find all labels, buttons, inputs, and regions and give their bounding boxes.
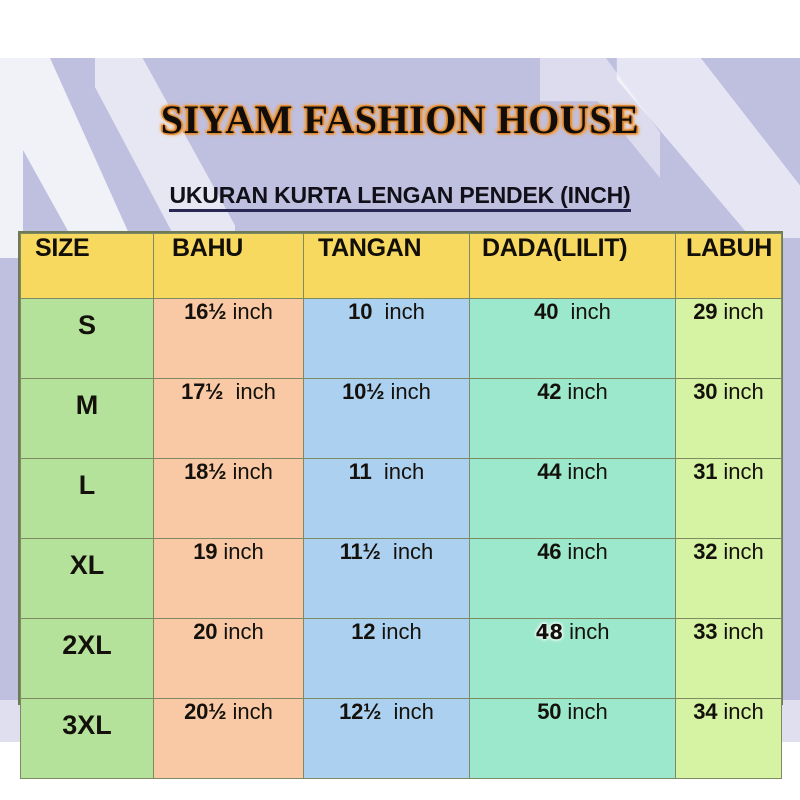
value-number-edited: 48 <box>536 620 563 644</box>
cell-dada: 46 inch <box>470 539 676 619</box>
cell-size: XL <box>21 539 154 619</box>
value-number: 16½ <box>184 299 226 324</box>
column-header-bahu: BAHU <box>154 234 304 299</box>
value-unit: inch <box>381 699 434 724</box>
cell-size: L <box>21 459 154 539</box>
chart-subtitle: UKURAN KURTA LENGAN PENDEK (INCH) <box>0 182 800 209</box>
value-unit: inch <box>372 459 425 484</box>
value-number: 34 <box>693 699 717 724</box>
value-unit: inch <box>717 539 763 564</box>
value-number: 42 <box>537 379 561 404</box>
size-chart-table-container: SIZE BAHU TANGAN DADA(LILIT) LABUH S 16½… <box>18 231 783 705</box>
value-unit: inch <box>561 379 607 404</box>
column-header-size: SIZE <box>21 234 154 299</box>
size-chart-image: SIYAM FASHION HOUSE UKURAN KURTA LENGAN … <box>0 0 800 800</box>
cell-size: M <box>21 379 154 459</box>
value-unit: inch <box>561 699 607 724</box>
cell-tangan: 11 inch <box>304 459 470 539</box>
cell-bahu: 19 inch <box>154 539 304 619</box>
value-number: 33 <box>693 619 717 644</box>
cell-labuh: 30 inch <box>676 379 782 459</box>
cell-size: S <box>21 299 154 379</box>
cell-labuh: 34 inch <box>676 699 782 779</box>
value-unit: inch <box>384 379 430 404</box>
table-row: 3XL 20½ inch 12½ inch 50 inch 34 inch <box>21 699 782 779</box>
value-number: 46 <box>537 539 561 564</box>
cell-tangan: 12 inch <box>304 619 470 699</box>
value-number: 18½ <box>184 459 226 484</box>
cell-bahu: 20 inch <box>154 619 304 699</box>
value-number: 30 <box>693 379 717 404</box>
value-unit: inch <box>717 379 763 404</box>
cell-bahu: 18½ inch <box>154 459 304 539</box>
chart-subtitle-text: UKURAN KURTA LENGAN PENDEK (INCH) <box>169 182 630 212</box>
value-unit: inch <box>561 539 607 564</box>
cell-tangan: 10 inch <box>304 299 470 379</box>
value-unit: inch <box>558 299 611 324</box>
cell-labuh: 29 inch <box>676 299 782 379</box>
value-unit: inch <box>717 299 763 324</box>
value-number: 32 <box>693 539 717 564</box>
table-header-row: SIZE BAHU TANGAN DADA(LILIT) LABUH <box>21 234 782 299</box>
column-header-labuh: LABUH <box>676 234 782 299</box>
value-unit: inch <box>561 459 607 484</box>
value-unit: inch <box>563 619 609 644</box>
cell-bahu: 17½ inch <box>154 379 304 459</box>
cell-labuh: 31 inch <box>676 459 782 539</box>
value-number: 20 <box>193 619 217 644</box>
table-body: S 16½ inch 10 inch 40 inch 29 inch M 17½… <box>21 299 782 779</box>
value-unit: inch <box>226 299 272 324</box>
cell-labuh: 33 inch <box>676 619 782 699</box>
table-row: S 16½ inch 10 inch 40 inch 29 inch <box>21 299 782 379</box>
value-number: 12½ <box>339 699 381 724</box>
cell-dada: 44 inch <box>470 459 676 539</box>
value-unit: inch <box>375 619 421 644</box>
value-unit: inch <box>226 459 272 484</box>
value-unit: inch <box>717 699 763 724</box>
value-number: 11½ <box>340 539 381 564</box>
cell-size: 2XL <box>21 619 154 699</box>
value-unit: inch <box>226 699 272 724</box>
value-number: 12 <box>351 619 375 644</box>
value-unit: inch <box>717 459 763 484</box>
column-header-dada: DADA(LILIT) <box>470 234 676 299</box>
cell-tangan: 11½ inch <box>304 539 470 619</box>
table-row: L 18½ inch 11 inch 44 inch 31 inch <box>21 459 782 539</box>
value-number: 17½ <box>181 379 223 404</box>
cell-bahu: 20½ inch <box>154 699 304 779</box>
value-number: 29 <box>693 299 717 324</box>
value-unit: inch <box>717 619 763 644</box>
value-unit: inch <box>372 299 425 324</box>
column-header-tangan: TANGAN <box>304 234 470 299</box>
cell-labuh: 32 inch <box>676 539 782 619</box>
value-unit: inch <box>217 619 263 644</box>
value-number: 19 <box>193 539 217 564</box>
table-row: 2XL 20 inch 12 inch 48 inch 33 inch <box>21 619 782 699</box>
value-number: 44 <box>537 459 561 484</box>
value-unit: inch <box>217 539 263 564</box>
brand-title: SIYAM FASHION HOUSE <box>0 96 800 143</box>
value-number: 31 <box>693 459 717 484</box>
value-unit: inch <box>381 539 434 564</box>
value-number: 11 <box>349 459 372 484</box>
value-number: 40 <box>534 299 558 324</box>
size-chart-table: SIZE BAHU TANGAN DADA(LILIT) LABUH S 16½… <box>20 233 782 779</box>
cell-dada: 42 inch <box>470 379 676 459</box>
cell-tangan: 12½ inch <box>304 699 470 779</box>
value-number: 10 <box>348 299 372 324</box>
cell-dada: 40 inch <box>470 299 676 379</box>
cell-bahu: 16½ inch <box>154 299 304 379</box>
value-number: 50 <box>537 699 561 724</box>
cell-size: 3XL <box>21 699 154 779</box>
cell-dada: 50 inch <box>470 699 676 779</box>
table-header: SIZE BAHU TANGAN DADA(LILIT) LABUH <box>21 234 782 299</box>
table-row: XL 19 inch 11½ inch 46 inch 32 inch <box>21 539 782 619</box>
value-number: 20½ <box>184 699 226 724</box>
table-row: M 17½ inch 10½ inch 42 inch 30 inch <box>21 379 782 459</box>
value-unit: inch <box>223 379 276 404</box>
value-number: 10½ <box>342 379 384 404</box>
cell-tangan: 10½ inch <box>304 379 470 459</box>
cell-dada: 48 inch <box>470 619 676 699</box>
